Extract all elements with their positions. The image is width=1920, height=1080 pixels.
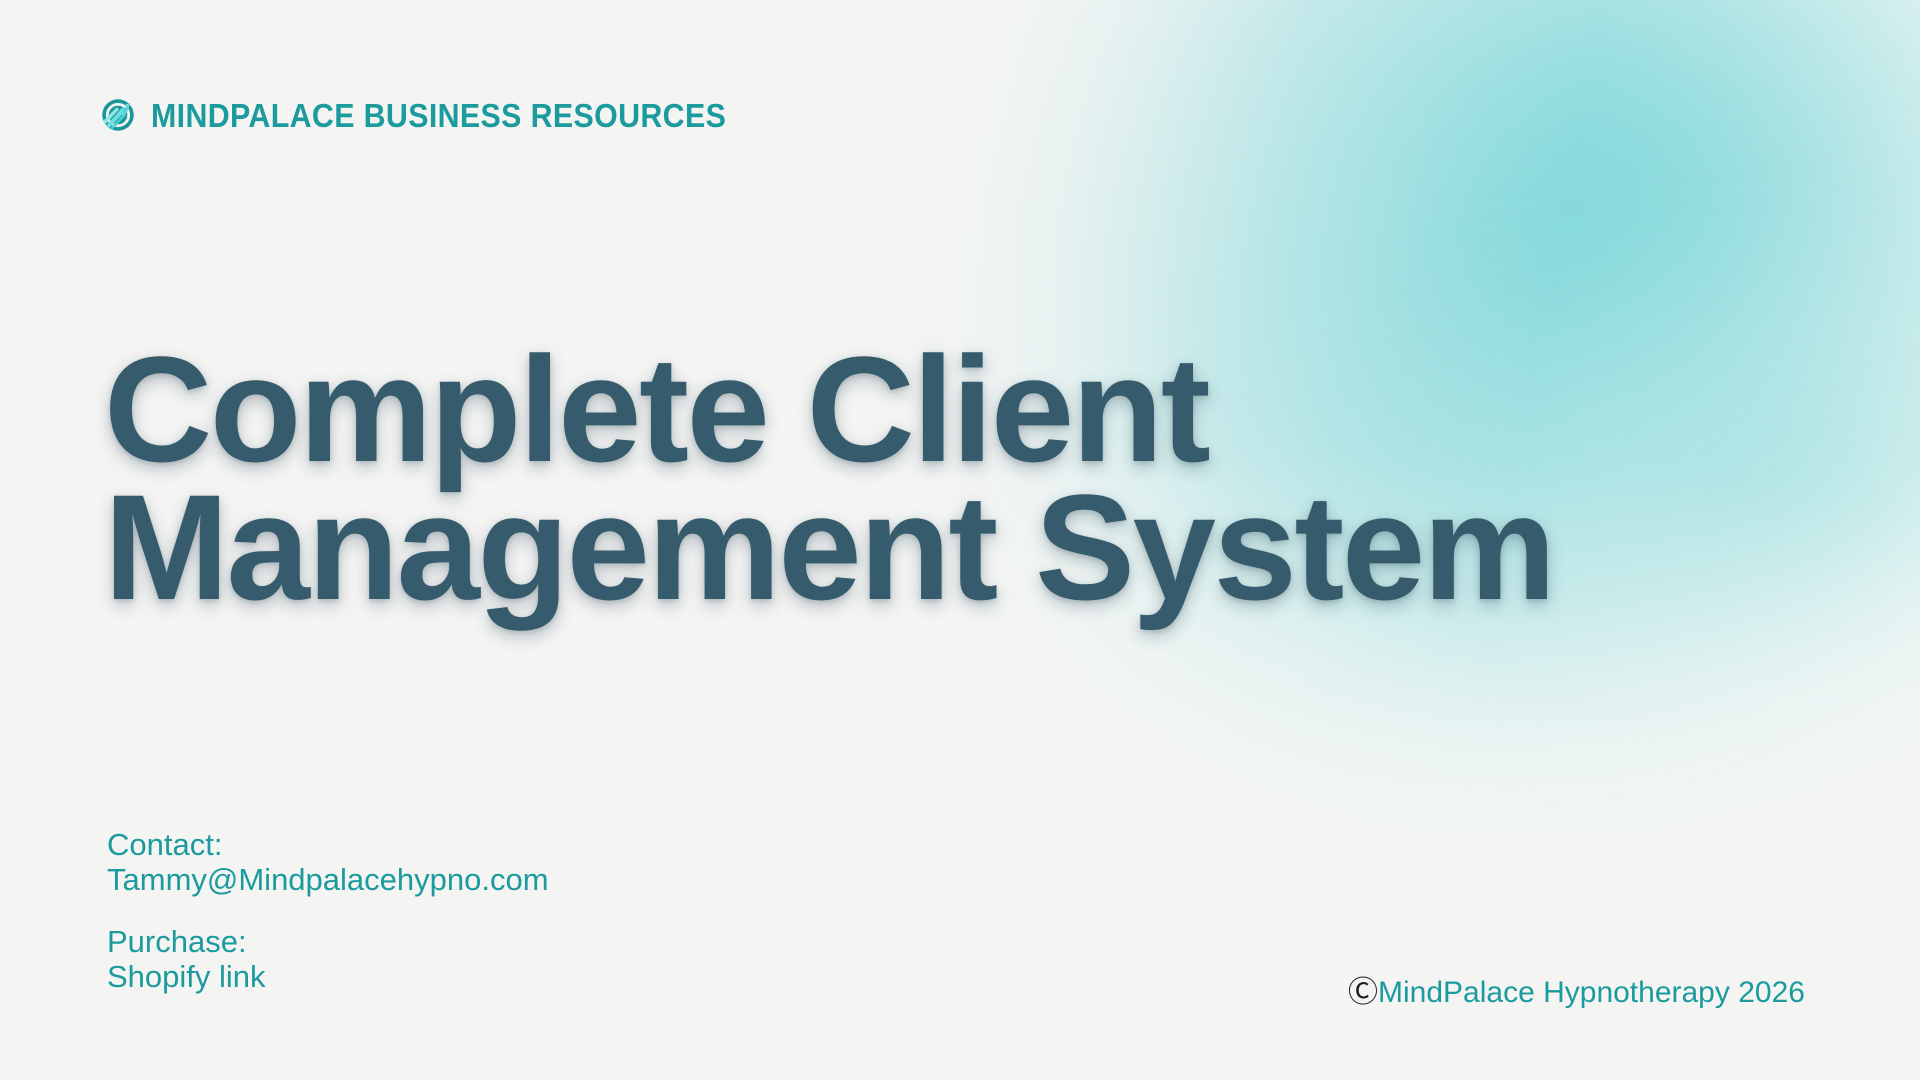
rocket-circle-logo-icon bbox=[100, 97, 136, 133]
copyright-text: MindPalace Hypnotherapy 2026 bbox=[1378, 976, 1805, 1010]
contact-label: Contact: bbox=[107, 828, 549, 863]
contact-block: Contact: Tammy@Mindpalacehypno.com bbox=[107, 828, 549, 897]
brand-header: MINDPALACE BUSINESS RESOURCES bbox=[100, 97, 776, 133]
purchase-label: Purchase: bbox=[107, 925, 549, 960]
copyright-notice: Ⓒ MindPalace Hypnotherapy 2026 bbox=[1348, 976, 1805, 1010]
page-title-line-2: Management System bbox=[104, 478, 1744, 616]
contact-email[interactable]: Tammy@Mindpalacehypno.com bbox=[107, 863, 549, 898]
purchase-block: Purchase: Shopify link bbox=[107, 925, 549, 994]
copyright-icon: Ⓒ bbox=[1348, 978, 1378, 1008]
page-title: Complete Client Management System bbox=[104, 340, 1744, 616]
brand-title: MINDPALACE BUSINESS RESOURCES bbox=[151, 99, 726, 132]
page-title-line-1: Complete Client bbox=[104, 340, 1744, 478]
background-glow-tail bbox=[1180, 200, 1920, 1080]
presentation-slide: MINDPALACE BUSINESS RESOURCES Complete C… bbox=[0, 0, 1920, 1080]
info-section: Contact: Tammy@Mindpalacehypno.com Purch… bbox=[107, 828, 549, 995]
purchase-link[interactable]: Shopify link bbox=[107, 960, 549, 995]
